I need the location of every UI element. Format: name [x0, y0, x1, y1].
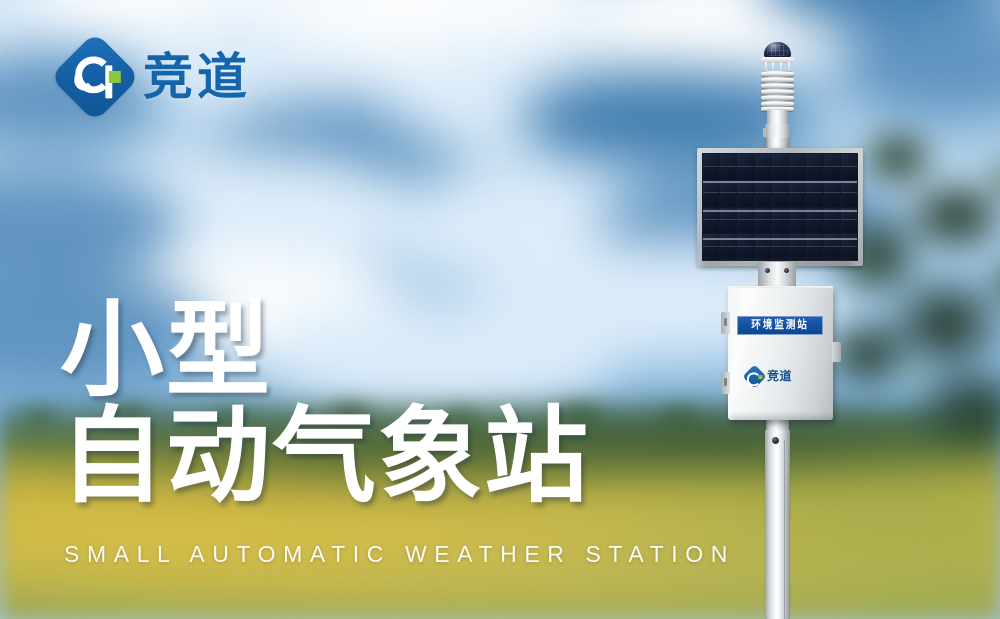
page-title-line-1: 小型	[60, 302, 590, 402]
mast-pole-lower-icon	[765, 430, 790, 619]
enclosure-mount-lug-right	[832, 342, 841, 362]
enclosure-brand-logo: 竞道	[746, 366, 816, 386]
jingdao-diamond-logo-icon	[742, 364, 766, 388]
promotional-banner: 环境监测站 竞道 竞道 小型 自动气象站 SMALL AUTOMATIC WEA…	[0, 0, 1000, 619]
brand-logo[interactable]: 竞道	[63, 45, 251, 109]
brand-name: 竞道	[143, 52, 251, 102]
enclosure-screw-bottom	[724, 378, 727, 386]
radiation-shield-icon	[762, 71, 793, 111]
sensor-collar	[765, 124, 790, 138]
solar-panel-icon	[697, 148, 863, 266]
sensor-cable-clip	[763, 128, 766, 137]
jingdao-diamond-logo-icon	[50, 32, 141, 123]
enclosure-screw-top	[724, 318, 727, 326]
logo-green-square-accent	[109, 71, 121, 83]
enclosure-banner-label: 环境监测站	[751, 320, 809, 331]
solar-cell-grid	[702, 153, 858, 261]
ultrasonic-weather-sensor-icon	[752, 42, 802, 138]
enclosure-banner: 环境监测站	[737, 316, 823, 335]
mast-bolt-icon	[772, 437, 779, 444]
enclosure-shadow	[730, 416, 833, 424]
mast-seam	[784, 440, 785, 619]
enclosure-brand-name: 竞道	[767, 370, 792, 382]
page-title-line-2: 自动气象站	[60, 408, 590, 508]
page-title: 小型 自动气象站	[60, 302, 590, 508]
page-subtitle: SMALL AUTOMATIC WEATHER STATION	[64, 541, 735, 568]
logo-hook-shape	[74, 69, 96, 91]
solar-panel-frame	[697, 148, 863, 266]
enclosure-box	[728, 288, 833, 420]
